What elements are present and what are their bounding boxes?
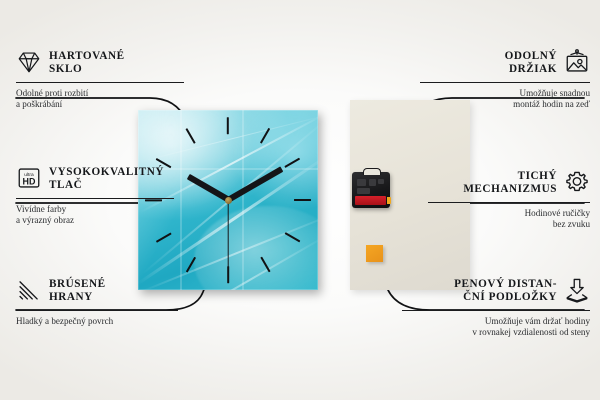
hanger-loop-icon <box>363 168 381 175</box>
second-hand <box>227 200 228 270</box>
feature-header: HARTOVANÉ SKLO <box>16 50 184 77</box>
divider <box>16 82 184 83</box>
battery <box>355 196 386 205</box>
feature-title-line2: DRŽIAK <box>509 63 557 75</box>
feature-title-line1: PENOVÝ DISTAN- <box>454 278 557 290</box>
ultra-hd-badge-icon: ultra HD <box>16 165 42 191</box>
feature-title-line1: HARTOVANÉ <box>49 50 125 62</box>
feature-subtitle-line1: Odolné proti rozbití <box>16 88 88 98</box>
feature-title: VYSOKOKVALITNÝ TLAČ <box>49 166 164 193</box>
wall-hanging-frame-icon <box>564 49 590 75</box>
divider <box>402 310 590 311</box>
diamond-icon <box>16 49 42 75</box>
feature-title-line2: ČNÍ PODLOŽKY <box>463 291 557 303</box>
feature-subtitle-line2: a výrazný obraz <box>16 215 74 225</box>
feature-subtitle-line2: bez zvuku <box>553 219 590 229</box>
gear-icon <box>564 169 590 195</box>
feature-subtitle-line1: Vivídne farby <box>16 204 66 214</box>
feature-subtitle-line1: Hladký a bezpečný povrch <box>16 316 113 326</box>
feature-header: ODOLNÝ DRŽIAK <box>420 50 590 77</box>
feature-header: BRÚSENÉ HRANY <box>16 278 178 305</box>
battery-terminal <box>387 197 391 204</box>
clock-hub <box>225 197 232 204</box>
divider <box>16 310 178 311</box>
foam-spacer-pad <box>366 245 383 262</box>
feature-title-line2: SKLO <box>49 63 82 75</box>
feature-header: ultra HD VYSOKOKVALITNÝ TLAČ <box>16 166 174 193</box>
mechanism-detail <box>357 188 370 194</box>
feature-subtitle: Vivídne farby a výrazný obraz <box>16 204 174 227</box>
feature-subtitle-line2: montáž hodin na zeď <box>513 99 590 109</box>
minute-hand <box>227 167 283 203</box>
feature-header: TICHÝ MECHANIZMUS <box>428 170 590 197</box>
feature-durable-holder: ODOLNÝ DRŽIAK Umožňuje snadnou montáž ho… <box>420 50 590 111</box>
feature-title-line2: TLAČ <box>49 179 82 191</box>
feature-high-quality-print: ultra HD VYSOKOKVALITNÝ TLAČ Vivídne far… <box>16 166 174 227</box>
feature-title-line2: MECHANIZMUS <box>463 183 557 195</box>
feature-tempered-glass: HARTOVANÉ SKLO Odolné proti rozbití a po… <box>16 50 184 111</box>
feature-subtitle-line2: v rovnakej vzdialenosti od steny <box>472 327 590 337</box>
mechanism-detail <box>357 179 366 186</box>
feature-ground-edges: BRÚSENÉ HRANY Hladký a bezpečný povrch <box>16 278 178 327</box>
feature-title: ODOLNÝ DRŽIAK <box>505 50 557 77</box>
mechanism-detail <box>369 179 376 186</box>
feature-title-line2: HRANY <box>49 291 93 303</box>
hour-hand <box>187 175 230 203</box>
feature-subtitle: Umožňuje vám držať hodiny v rovnakej vzd… <box>402 316 590 339</box>
press-down-pad-icon <box>564 277 590 303</box>
feature-title: PENOVÝ DISTAN- ČNÍ PODLOŽKY <box>454 278 557 305</box>
feature-foam-spacers: PENOVÝ DISTAN- ČNÍ PODLOŽKY Umožňuje vám… <box>402 278 590 339</box>
feature-subtitle-line1: Hodinové ručičky <box>525 208 590 218</box>
feature-title: BRÚSENÉ HRANY <box>49 278 106 305</box>
feature-title-line1: TICHÝ <box>518 170 557 182</box>
feature-subtitle-line1: Umožňuje vám držať hodiny <box>485 316 590 326</box>
infographic-canvas: HARTOVANÉ SKLO Odolné proti rozbití a po… <box>0 0 600 400</box>
feature-title-line1: VYSOKOKVALITNÝ <box>49 166 164 178</box>
divider <box>428 202 590 203</box>
feature-subtitle-line2: a poškrábání <box>16 99 62 109</box>
feature-subtitle: Umožňuje snadnou montáž hodin na zeď <box>420 88 590 111</box>
feature-header: PENOVÝ DISTAN- ČNÍ PODLOŽKY <box>402 278 590 305</box>
feature-title: HARTOVANÉ SKLO <box>49 50 125 77</box>
feature-subtitle: Hladký a bezpečný povrch <box>16 316 178 328</box>
feature-silent-mechanism: TICHÝ MECHANIZMUS Hodinové ručičky bez z… <box>428 170 590 231</box>
feature-subtitle: Odolné proti rozbití a poškrábání <box>16 88 184 111</box>
feature-title-line1: ODOLNÝ <box>505 50 557 62</box>
mechanism-detail <box>378 179 384 184</box>
divider <box>420 82 590 83</box>
svg-text:HD: HD <box>23 177 36 187</box>
feature-subtitle: Hodinové ručičky bez zvuku <box>428 208 590 231</box>
divider <box>16 198 174 199</box>
feature-title: TICHÝ MECHANIZMUS <box>463 170 557 197</box>
feature-title-line1: BRÚSENÉ <box>49 278 106 290</box>
clock-mechanism <box>352 172 390 208</box>
polished-edges-icon <box>16 277 42 303</box>
feature-subtitle-line1: Umožňuje snadnou <box>520 88 590 98</box>
